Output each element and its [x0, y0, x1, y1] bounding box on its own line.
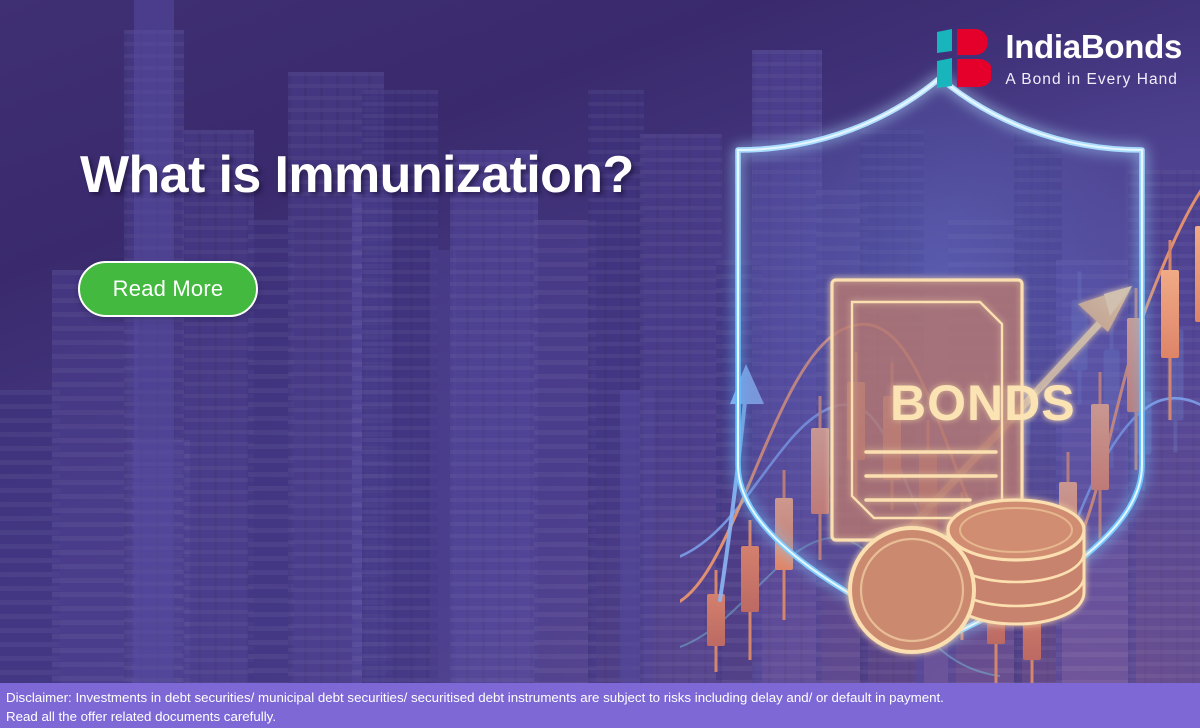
brand-tagline: A Bond in Every Hand	[1005, 72, 1178, 88]
page-title: What is Immunization?	[80, 145, 634, 205]
brand-logo[interactable]: IndiaBonds A Bond in Every Hand	[935, 26, 1182, 92]
promo-banner: BONDS	[0, 0, 1200, 728]
chart-svg: BONDS	[680, 0, 1200, 690]
indiabonds-logo-icon	[935, 26, 991, 92]
certificate-label: BONDS	[890, 375, 1076, 431]
disclaimer-bar: Disclaimer: Investments in debt securiti…	[0, 683, 1200, 728]
read-more-button[interactable]: Read More	[78, 261, 258, 317]
disclaimer-line-2: Read all the offer related documents car…	[6, 707, 1194, 726]
financial-illustration: BONDS	[680, 0, 1200, 690]
disclaimer-line-1: Disclaimer: Investments in debt securiti…	[6, 688, 1194, 707]
brand-name: IndiaBonds	[1005, 30, 1182, 63]
